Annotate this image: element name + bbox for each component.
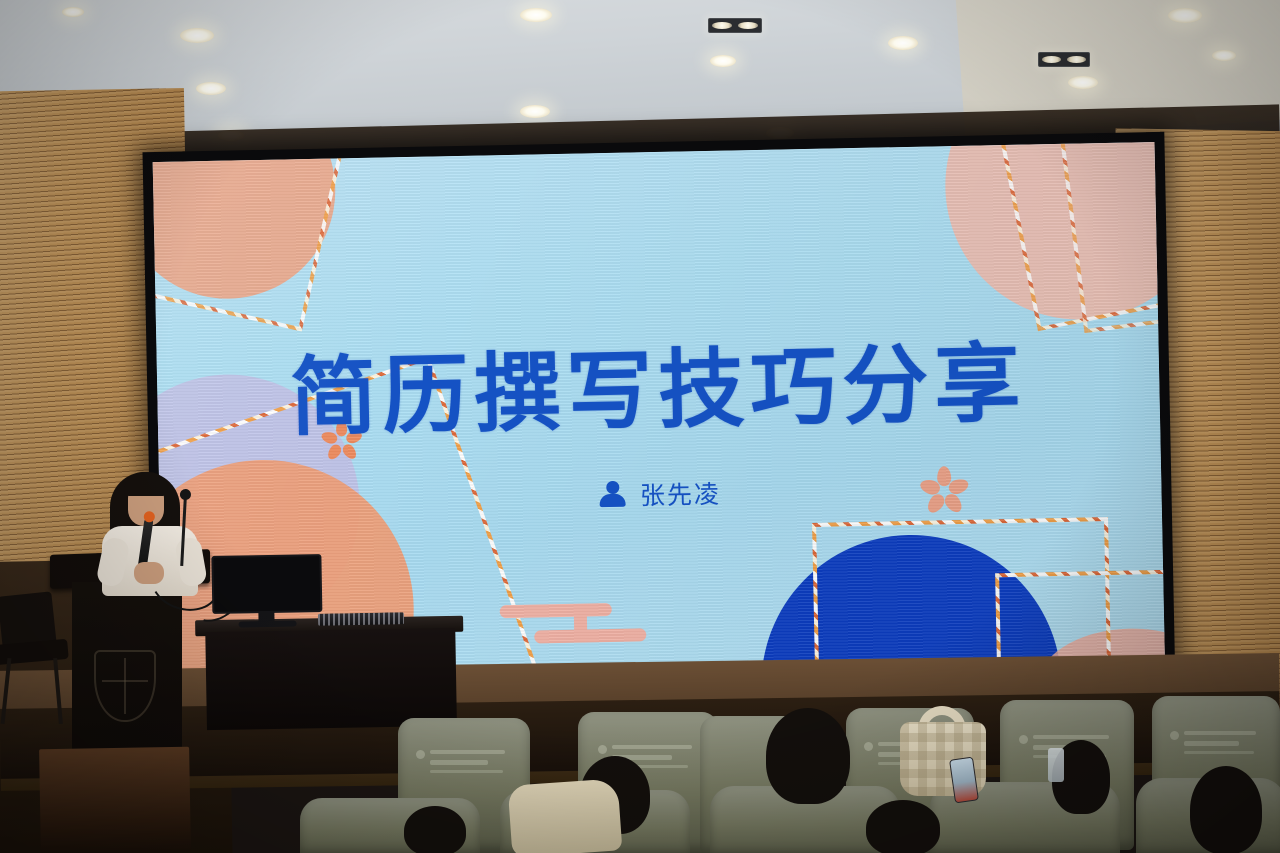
spotlight-fixture: [708, 18, 762, 33]
deco-z-bars: [500, 602, 641, 649]
downlight: [1212, 50, 1236, 61]
presenter-name: 张先凌: [640, 475, 722, 513]
folded-coat: [508, 778, 623, 853]
downlight: [196, 82, 226, 95]
downlight: [888, 36, 918, 50]
slide-title: 简历撰写技巧分享: [156, 310, 1160, 455]
downlight: [62, 7, 84, 17]
downlight: [520, 105, 550, 118]
person-icon: [600, 481, 627, 510]
stage-monitor: [211, 554, 322, 628]
keyboard: [318, 612, 404, 625]
audience-head: [866, 800, 940, 853]
audience-head: [1190, 766, 1262, 853]
audience-head: [766, 708, 850, 804]
downlight: [1168, 8, 1202, 23]
downlight: [1068, 76, 1098, 89]
spotlight-fixture: [1038, 52, 1090, 67]
deco-arc-top-left: [153, 142, 360, 331]
water-bottle: [1048, 748, 1064, 782]
audience-head: [404, 806, 466, 853]
downlight: [710, 55, 736, 67]
downlight: [180, 28, 214, 43]
seat-logo: [416, 748, 508, 783]
downlight: [520, 8, 552, 22]
lecture-hall-scene: 简历撰写技巧分享 张先凌: [0, 0, 1280, 853]
seat-logo: [1170, 729, 1260, 769]
